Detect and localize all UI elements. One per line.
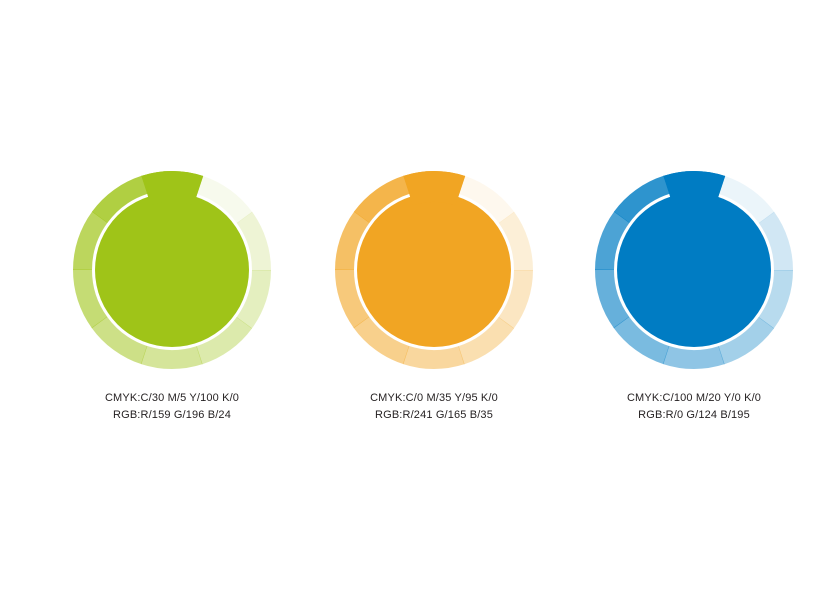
color-caption-green: CMYK:C/30 M/5 Y/100 K/0 RGB:R/159 G/196 … <box>42 390 302 424</box>
wheel-segment <box>663 346 725 369</box>
color-caption-orange: CMYK:C/0 M/35 Y/95 K/0 RGB:R/241 G/165 B… <box>304 390 564 424</box>
swatch-group-blue: CMYK:C/100 M/20 Y/0 K/0 RGB:R/0 G/124 B/… <box>564 170 824 440</box>
color-wheel-green-svg <box>72 170 272 370</box>
color-wheel-green <box>72 170 272 370</box>
color-wheel-orange-svg <box>334 170 534 370</box>
wheel-segment-accent <box>663 171 725 205</box>
cmyk-label-orange: CMYK:C/0 M/35 Y/95 K/0 <box>304 390 564 407</box>
wheel-segment-accent <box>403 171 465 205</box>
wheel-segment-accent <box>141 171 203 205</box>
swatch-group-orange: CMYK:C/0 M/35 Y/95 K/0 RGB:R/241 G/165 B… <box>304 170 564 440</box>
swatch-group-green: CMYK:C/30 M/5 Y/100 K/0 RGB:R/159 G/196 … <box>42 170 302 440</box>
color-wheel-orange <box>334 170 534 370</box>
cmyk-label-blue: CMYK:C/100 M/20 Y/0 K/0 <box>564 390 824 407</box>
wheel-segment <box>141 346 203 369</box>
wheel-core <box>617 193 771 347</box>
wheel-core <box>95 193 249 347</box>
cmyk-label-green: CMYK:C/30 M/5 Y/100 K/0 <box>42 390 302 407</box>
color-wheel-blue-svg <box>594 170 794 370</box>
rgb-label-blue: RGB:R/0 G/124 B/195 <box>564 407 824 424</box>
wheel-core <box>357 193 511 347</box>
wheel-segment <box>403 346 465 369</box>
color-wheel-blue <box>594 170 794 370</box>
color-caption-blue: CMYK:C/100 M/20 Y/0 K/0 RGB:R/0 G/124 B/… <box>564 390 824 424</box>
rgb-label-orange: RGB:R/241 G/165 B/35 <box>304 407 564 424</box>
palette-canvas: CMYK:C/30 M/5 Y/100 K/0 RGB:R/159 G/196 … <box>0 0 838 597</box>
rgb-label-green: RGB:R/159 G/196 B/24 <box>42 407 302 424</box>
